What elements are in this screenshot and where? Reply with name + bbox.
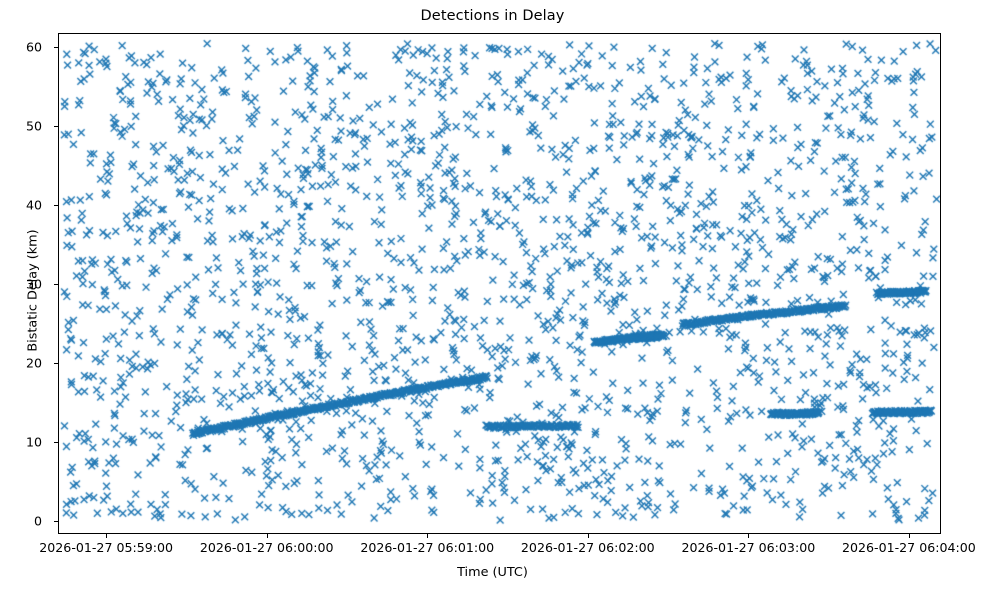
x-tick-mark: [427, 534, 428, 538]
x-tick-mark: [909, 534, 910, 538]
x-tick-label: 2026-01-27 06:04:00: [842, 540, 976, 555]
y-tick-mark: [54, 442, 58, 443]
x-tick-mark: [267, 534, 268, 538]
y-tick-label: 50: [26, 119, 42, 134]
detections-delay-figure: Detections in Delay 0102030405060 2026-0…: [0, 0, 985, 590]
y-tick-mark: [54, 363, 58, 364]
y-axis-label: Bistatic Delay (km): [26, 161, 41, 421]
y-tick-label: 60: [26, 40, 42, 55]
plot-area: [58, 33, 941, 534]
x-axis-label: Time (UTC): [0, 565, 985, 580]
x-tick-label: 2026-01-27 06:00:00: [200, 540, 334, 555]
x-tick-mark: [748, 534, 749, 538]
x-tick-label: 2026-01-27 06:03:00: [681, 540, 815, 555]
y-tick-mark: [54, 205, 58, 206]
y-tick-mark: [54, 47, 58, 48]
y-tick-mark: [54, 284, 58, 285]
y-tick-label: 10: [26, 435, 42, 450]
x-tick-mark: [588, 534, 589, 538]
y-tick-mark: [54, 521, 58, 522]
page-title: Detections in Delay: [0, 8, 985, 24]
y-tick-label: 0: [34, 514, 42, 529]
x-tick-label: 2026-01-27 05:59:00: [39, 540, 173, 555]
scatter-plot-canvas: [59, 34, 941, 534]
x-tick-label: 2026-01-27 06:02:00: [521, 540, 655, 555]
x-tick-label: 2026-01-27 06:01:00: [360, 540, 494, 555]
y-tick-mark: [54, 126, 58, 127]
x-tick-mark: [106, 534, 107, 538]
